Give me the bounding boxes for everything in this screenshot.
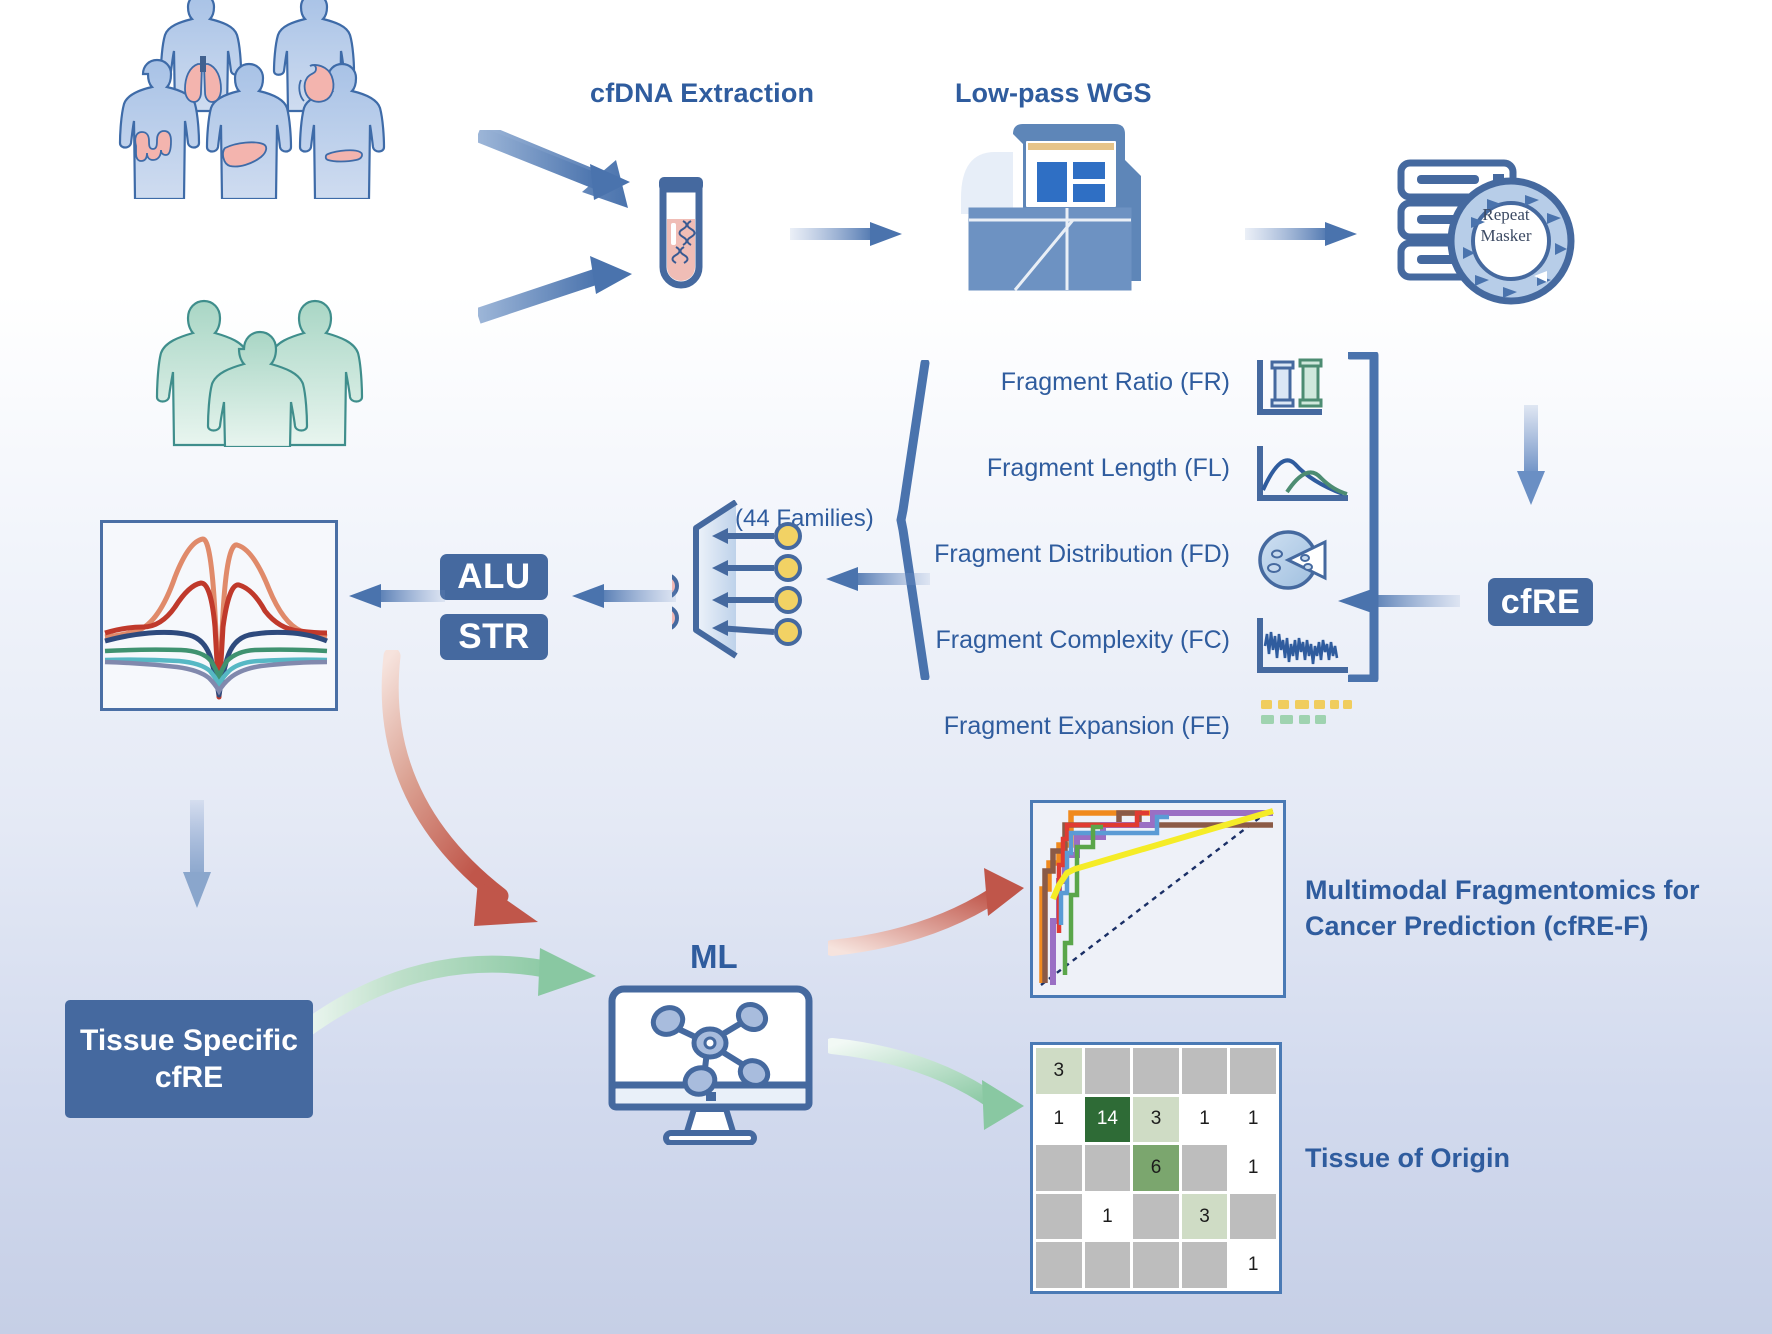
confusion-matrix-cell <box>1036 1194 1082 1240</box>
arrow-extraction-to-wgs <box>790 218 910 255</box>
sequencer-icon <box>955 120 1145 295</box>
confusion-matrix-cell <box>1230 1048 1276 1094</box>
confusion-matrix-cell <box>1133 1242 1179 1288</box>
tissue-specific-cfre-box[interactable]: Tissue Specific cfRE <box>65 1000 313 1118</box>
density-curve-icon <box>1255 444 1355 511</box>
roc-curve-purple <box>1053 813 1273 985</box>
cfdna-extraction-label: cfDNA Extraction <box>590 78 814 109</box>
confusion-matrix-cell: 1 <box>1182 1097 1228 1143</box>
ml-monitor-icon <box>608 985 813 1145</box>
arrow-ml-to-tissue-of-origin <box>828 1030 1038 1155</box>
tissue-of-origin-label: Tissue of Origin <box>1305 1143 1510 1174</box>
confusion-matrix-cell: 1 <box>1085 1194 1131 1240</box>
confusion-matrix-cell <box>1085 1048 1131 1094</box>
repeat-masker-text-line2: Masker <box>1481 226 1532 245</box>
repeat-masker-icon: Repeat Masker <box>1395 155 1595 310</box>
patient-cohort-figures <box>95 0 405 199</box>
test-tubes-icon <box>1255 358 1347 425</box>
tissue-specific-line1: Tissue Specific <box>80 1022 298 1060</box>
tissue-of-origin-confusion-matrix: 311431161131 <box>1030 1042 1282 1294</box>
ml-label: ML <box>690 938 738 976</box>
cfre-chip[interactable]: cfRE <box>1488 578 1593 626</box>
dashed-blocks-icon <box>1255 694 1355 739</box>
arrow-repeatmasker-to-cfre <box>1512 405 1552 520</box>
confusion-matrix-grid: 311431161131 <box>1036 1048 1276 1288</box>
arrow-tissue-specific-to-ml-green <box>290 920 620 1065</box>
repeat-family-funnel-icon <box>672 500 812 660</box>
metrics-left-brace <box>895 360 935 685</box>
confusion-matrix-cell: 3 <box>1036 1048 1082 1094</box>
confusion-matrix-cell <box>1182 1242 1228 1288</box>
confusion-matrix-cell <box>1085 1242 1131 1288</box>
healthy-control-figures <box>140 262 380 447</box>
fragment-metrics-list: Fragment Ratio (FR) Fragment Length (FL)… <box>930 350 1230 730</box>
metric-label-fr: Fragment Ratio (FR) <box>1001 368 1230 397</box>
arrow-wgs-to-repeatmasker <box>1245 218 1365 255</box>
confusion-matrix-cell <box>1085 1145 1131 1191</box>
arrow-metrics-to-funnel <box>820 563 930 600</box>
low-pass-wgs-label: Low-pass WGS <box>955 78 1152 109</box>
confusion-matrix-cell <box>1182 1145 1228 1191</box>
confusion-matrix-cell: 6 <box>1133 1145 1179 1191</box>
confusion-matrix-cell <box>1036 1145 1082 1191</box>
confusion-matrix-cell: 1 <box>1036 1097 1082 1143</box>
tissue-specific-line2: cfRE <box>155 1059 223 1097</box>
arrow-profile-to-tissue-specific <box>178 800 218 925</box>
confusion-matrix-cell: 14 <box>1085 1097 1131 1143</box>
roc-description-label: Multimodal Fragmentomics for Cancer Pred… <box>1305 872 1725 945</box>
arrow-repeats-to-profile <box>345 580 445 617</box>
roc-description-line2: Cancer Prediction (cfRE-F) <box>1305 908 1725 944</box>
confusion-matrix-cell: 3 <box>1182 1194 1228 1240</box>
confusion-matrix-cell: 1 <box>1230 1097 1276 1143</box>
arrow-patients-to-extraction <box>478 130 648 215</box>
repeat-masker-text-line1: Repeat <box>1482 205 1529 224</box>
metric-label-fd: Fragment Distribution (FD) <box>934 540 1230 569</box>
confusion-matrix-cell <box>1133 1194 1179 1240</box>
roc-curve-plot <box>1030 800 1286 998</box>
metric-label-fl: Fragment Length (FL) <box>987 454 1230 483</box>
blood-collection-tube-icon <box>645 175 717 300</box>
confusion-matrix-cell <box>1036 1242 1082 1288</box>
arrow-funnel-to-repeats <box>566 580 676 617</box>
confusion-matrix-cell: 3 <box>1133 1097 1179 1143</box>
metric-label-fe: Fragment Expansion (FE) <box>944 712 1230 741</box>
pie-circle-icon <box>1255 528 1327 597</box>
family-input-dots <box>776 524 800 644</box>
roc-description-line1: Multimodal Fragmentomics for <box>1305 872 1725 908</box>
confusion-matrix-cell: 1 <box>1230 1242 1276 1288</box>
metric-label-fc: Fragment Complexity (FC) <box>936 626 1231 655</box>
alu-chip[interactable]: ALU <box>440 554 548 600</box>
confusion-matrix-cell <box>1133 1048 1179 1094</box>
confusion-matrix-cell <box>1230 1194 1276 1240</box>
cfre-signal-profile-plot <box>100 520 338 711</box>
arrow-ml-to-roc <box>828 862 1038 977</box>
noise-signal-icon <box>1255 616 1355 683</box>
confusion-matrix-cell <box>1182 1048 1228 1094</box>
arrow-controls-to-extraction <box>478 250 648 335</box>
confusion-matrix-cell: 1 <box>1230 1145 1276 1191</box>
